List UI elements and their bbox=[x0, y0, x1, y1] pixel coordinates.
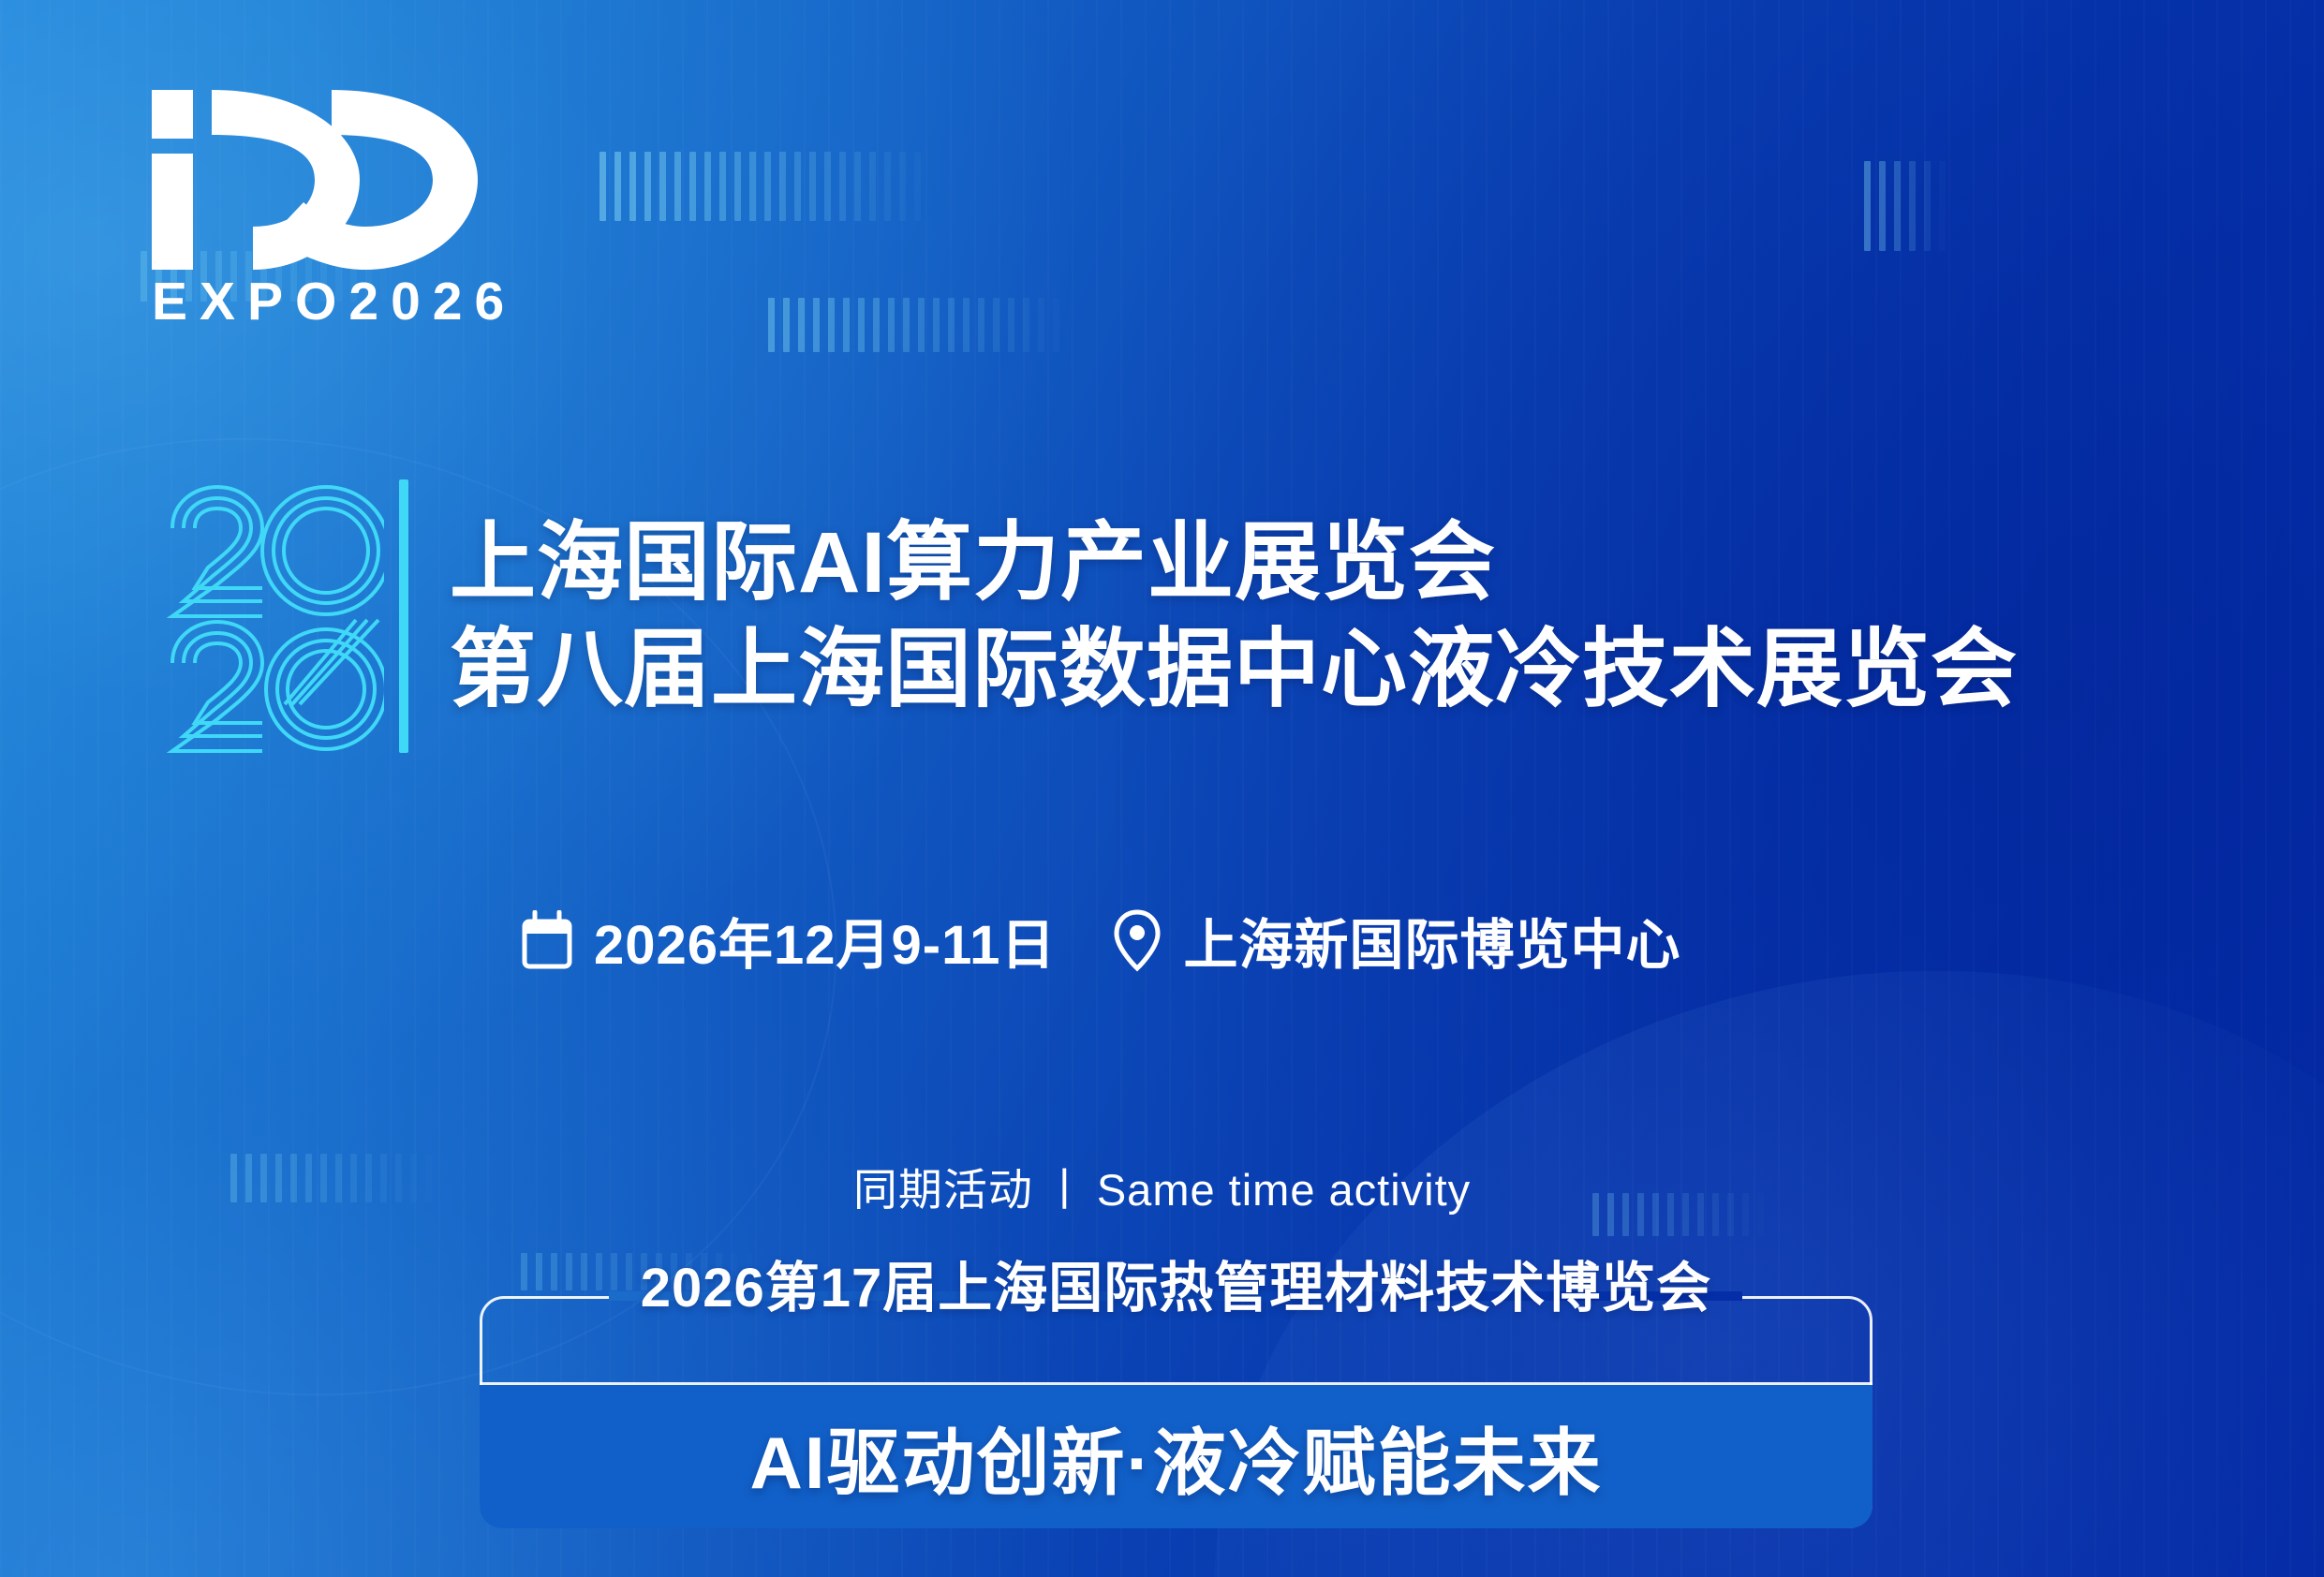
co-located-event-panel: 2026第17届上海国际热管理材料技术博览会 AI驱动创新·液冷赋能未来 bbox=[480, 1296, 1873, 1528]
event-date-text: 2026年12月9-11日 bbox=[594, 901, 1056, 980]
event-venue-text: 上海新国际博览中心 bbox=[1183, 901, 1680, 980]
brand-logo: EXPO2026 bbox=[148, 86, 541, 329]
idc-monogram-logo-icon bbox=[148, 86, 493, 270]
same-time-activity-cn: 同期活动 bbox=[853, 1165, 1033, 1215]
panel-heading-text: 2026第17届上海国际热管理材料技术博览会 bbox=[480, 1244, 1873, 1322]
same-time-activity-en: Same time activity bbox=[1097, 1165, 1471, 1215]
title-line-2: 第八届上海国际数据中心液冷技术展览会 bbox=[450, 616, 2018, 723]
title-line-1: 上海国际AI算力产业展览会 bbox=[450, 509, 2018, 616]
same-time-activity-separator: 丨 bbox=[1033, 1165, 1097, 1215]
headline-block: 上海国际AI算力产业展览会 第八届上海国际数据中心液冷技术展览会 bbox=[159, 479, 2018, 753]
brand-wordmark: EXPO2026 bbox=[148, 275, 541, 329]
poster-canvas: EXPO2026 bbox=[0, 0, 2324, 1577]
panel-slogan-area: AI驱动创新·液冷赋能未来 bbox=[480, 1385, 1873, 1528]
calendar-icon bbox=[521, 910, 573, 970]
event-meta-row: 2026年12月9-11日 上海新国际博览中心 bbox=[521, 901, 1680, 980]
title-divider-bar bbox=[399, 479, 408, 753]
event-venue: 上海新国际博览中心 bbox=[1112, 901, 1680, 980]
title-lines: 上海国际AI算力产业展览会 第八届上海国际数据中心液冷技术展览会 bbox=[450, 479, 2018, 753]
event-date: 2026年12月9-11日 bbox=[521, 901, 1056, 980]
location-pin-icon bbox=[1112, 908, 1162, 972]
panel-slogan-text: AI驱动创新·液冷赋能未来 bbox=[750, 1405, 1603, 1510]
year-2026-outline-mark-icon bbox=[159, 479, 384, 753]
same-time-activity-label: 同期活动丨Same time activity bbox=[0, 1154, 2324, 1218]
